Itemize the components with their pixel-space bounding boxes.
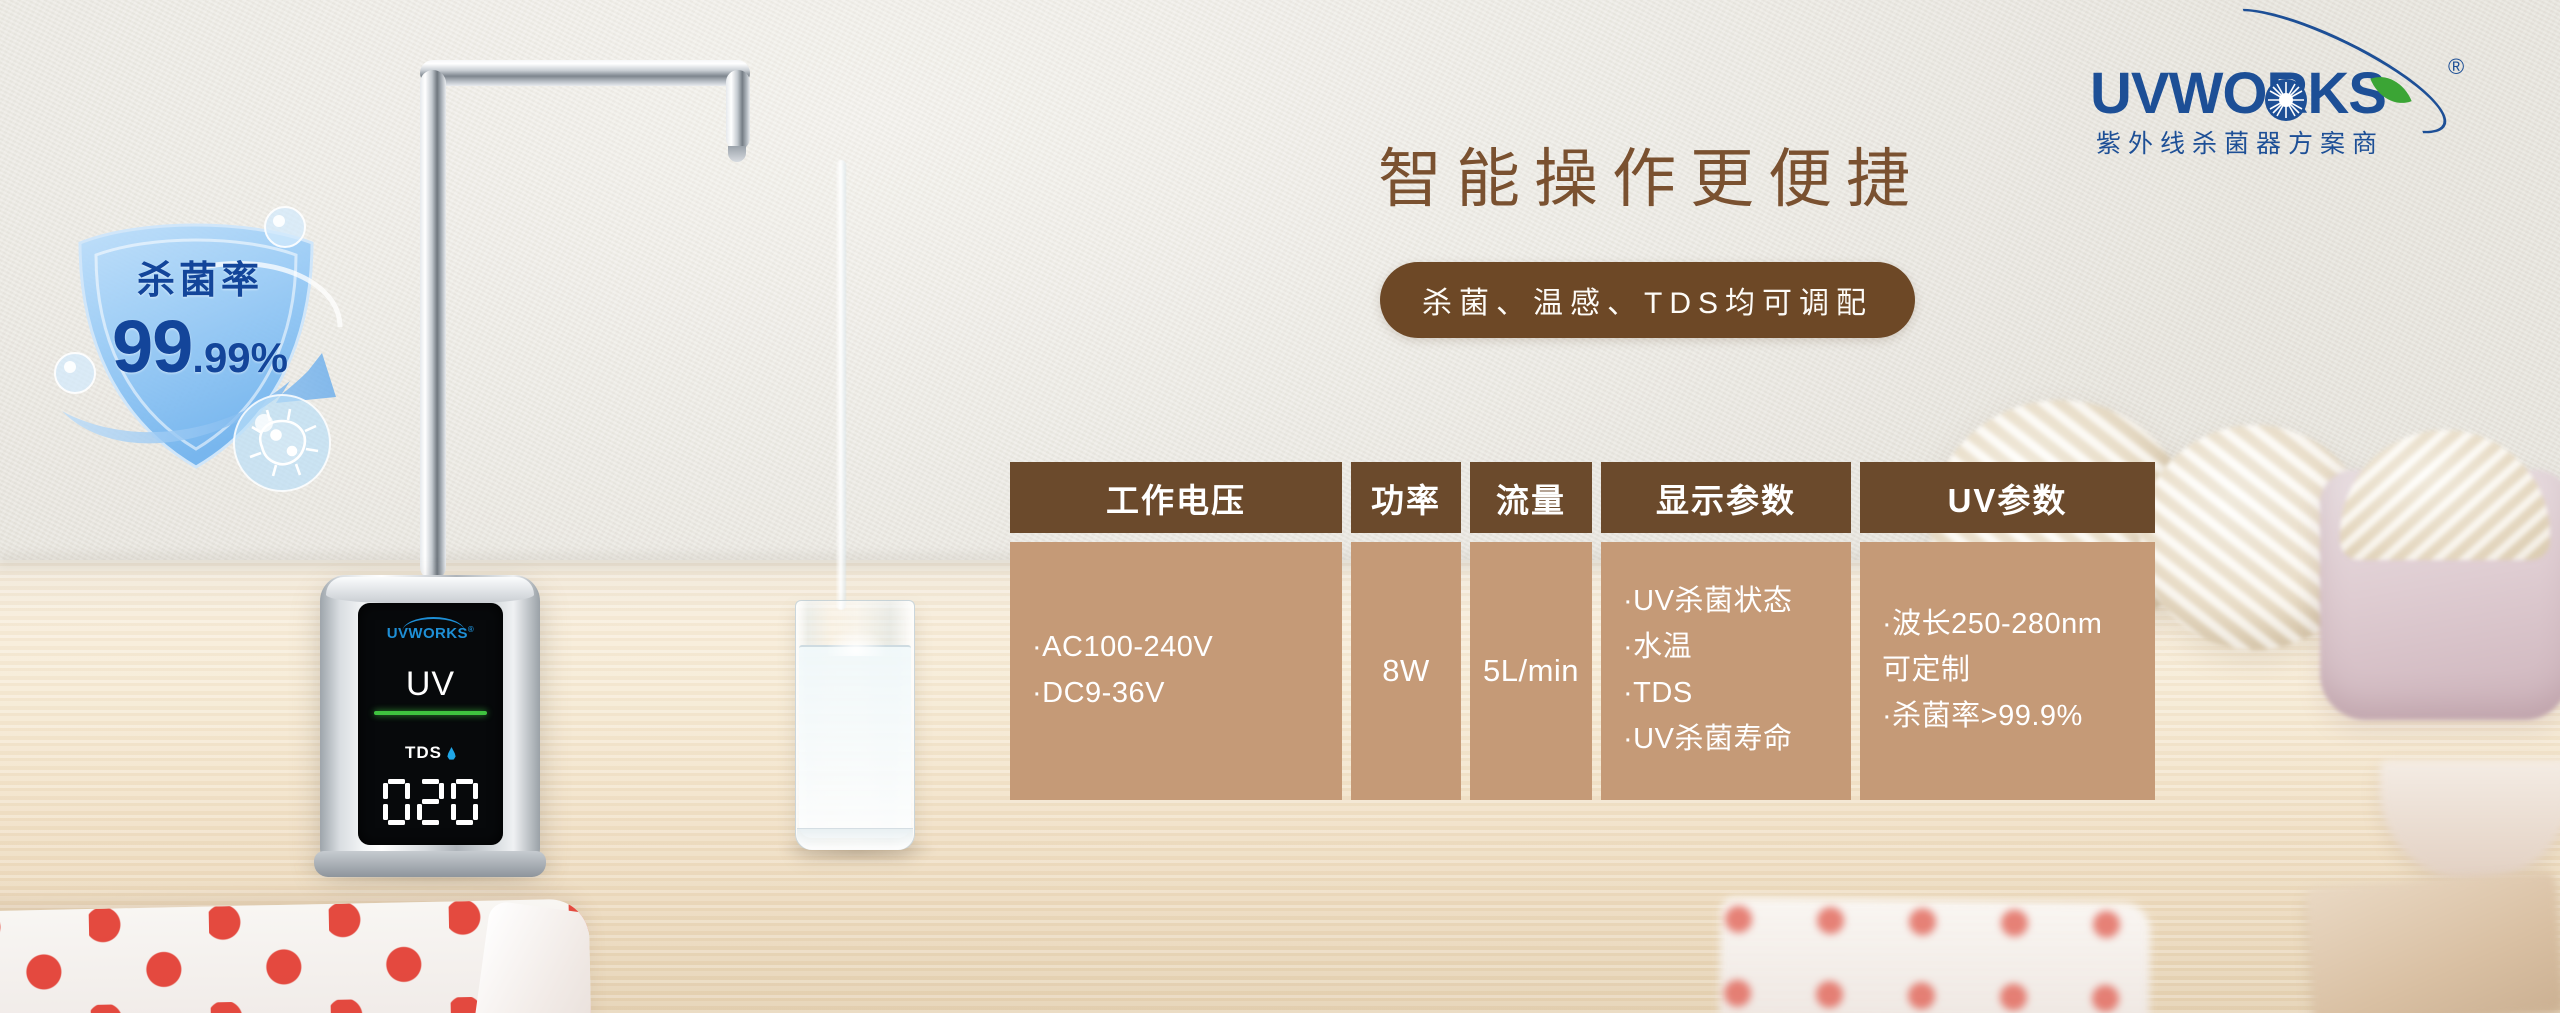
spec-column-display: 显示参数 ·UV杀菌状态 ·水温 ·TDS ·UV杀菌寿命 xyxy=(1601,462,1851,800)
spec-column-uv: UV参数 ·波长250-280nm 可定制 ·杀菌率>99.9% xyxy=(1860,462,2155,800)
product-banner: UVWORKS® UV TDS 020 xyxy=(0,0,2560,1013)
badge-percent: % xyxy=(251,334,288,381)
spec-cell: 8W xyxy=(1351,542,1461,800)
spec-cell: ·波长250-280nm 可定制 ·杀菌率>99.9% xyxy=(1860,542,2155,800)
spec-column-power: 功率 8W xyxy=(1351,462,1461,800)
spec-line: ·水温 xyxy=(1623,625,1692,671)
water-stream xyxy=(836,160,846,610)
spec-column-voltage: 工作电压 ·AC100-240V ·DC9-36V xyxy=(1010,462,1342,800)
spec-line: 8W xyxy=(1382,647,1430,696)
glass-water xyxy=(799,645,911,838)
polka-dot-cloth-right xyxy=(1719,897,2151,1013)
faucet xyxy=(420,60,750,580)
badge-value-main: 99 xyxy=(112,305,192,388)
spec-line: ·TDS xyxy=(1623,671,1693,717)
device-screen[interactable]: UVWORKS® UV TDS 020 xyxy=(358,603,503,845)
screen-logo-reg: ® xyxy=(468,625,474,634)
spec-line: ·杀菌率>99.9% xyxy=(1882,694,2083,740)
seven-segment-digit xyxy=(383,779,410,825)
spec-table: 工作电压 ·AC100-240V ·DC9-36V 功率 8W 流量 5L/mi… xyxy=(1010,462,2155,800)
brand-tagline: 紫外线杀菌器方案商 xyxy=(2096,124,2384,160)
spec-line: ·UV杀菌状态 xyxy=(1623,579,1792,625)
faucet-spout-arm xyxy=(726,70,750,150)
registered-mark: ® xyxy=(2448,54,2464,80)
screen-tds-value xyxy=(358,779,503,825)
cutting-board-decor xyxy=(2305,871,2560,1013)
badge-label: 杀菌率 xyxy=(40,249,360,304)
screen-status-bar xyxy=(374,711,487,715)
spec-header: 流量 xyxy=(1470,462,1592,533)
spec-line: ·DC9-36V xyxy=(1032,671,1165,717)
badge-text: 杀菌率 99.99% xyxy=(40,249,360,389)
spec-header: UV参数 xyxy=(1860,462,2155,533)
basket-yarn-decor xyxy=(2340,430,2550,560)
spec-header: 功率 xyxy=(1351,462,1461,533)
uv-sunburst-icon xyxy=(2264,78,2308,122)
device-top-cap xyxy=(326,577,534,603)
spec-line: 可定制 xyxy=(1882,648,1971,694)
spec-line: 5L/min xyxy=(1483,647,1579,696)
faucet-spout-tip xyxy=(728,146,746,162)
cloth-fold xyxy=(471,900,592,1013)
tds-text: TDS xyxy=(405,743,442,762)
faucet-arm-top xyxy=(420,60,750,86)
faucet-arm-vertical xyxy=(420,70,446,580)
spec-cell: ·AC100-240V ·DC9-36V xyxy=(1010,542,1342,800)
logo-wordmark: UVWORKS xyxy=(2090,60,2386,127)
device-base xyxy=(314,851,546,877)
spec-cell: 5L/min xyxy=(1470,542,1592,800)
water-glass xyxy=(795,600,915,850)
logo-arc-icon xyxy=(402,617,464,631)
cloth-dots xyxy=(1719,897,2151,1013)
page-title: 智能操作更便捷 xyxy=(1378,128,1924,220)
spec-line: ·波长250-280nm xyxy=(1882,602,2102,648)
spec-cell: ·UV杀菌状态 ·水温 ·TDS ·UV杀菌寿命 xyxy=(1601,542,1851,800)
spec-header: 显示参数 xyxy=(1601,462,1851,533)
glass-base xyxy=(797,828,913,850)
sterilization-rate-badge: 杀菌率 99.99% xyxy=(40,175,360,495)
water-splash xyxy=(825,628,887,656)
seven-segment-digit xyxy=(451,779,478,825)
uv-sterilizer-device: UVWORKS® UV TDS 020 xyxy=(320,575,540,865)
spec-column-flow: 流量 5L/min xyxy=(1470,462,1592,800)
brand-logo: UVWORKS ® 紫外线杀菌器方案商 xyxy=(2090,32,2490,154)
screen-brand-logo: UVWORKS® xyxy=(358,625,503,642)
badge-value-decimal: .99 xyxy=(192,334,250,381)
feature-pill: 杀菌、温感、TDS均可调配 xyxy=(1380,262,1915,338)
seven-segment-digit xyxy=(417,779,444,825)
spec-line: ·UV杀菌寿命 xyxy=(1623,717,1792,763)
screen-tds-label: TDS xyxy=(358,743,503,763)
screen-mode-label: UV xyxy=(358,665,503,704)
water-drop-icon xyxy=(447,747,456,760)
polka-dot-cloth-left xyxy=(0,899,591,1013)
spec-header: 工作电压 xyxy=(1010,462,1342,533)
spec-line: ·AC100-240V xyxy=(1032,625,1213,671)
